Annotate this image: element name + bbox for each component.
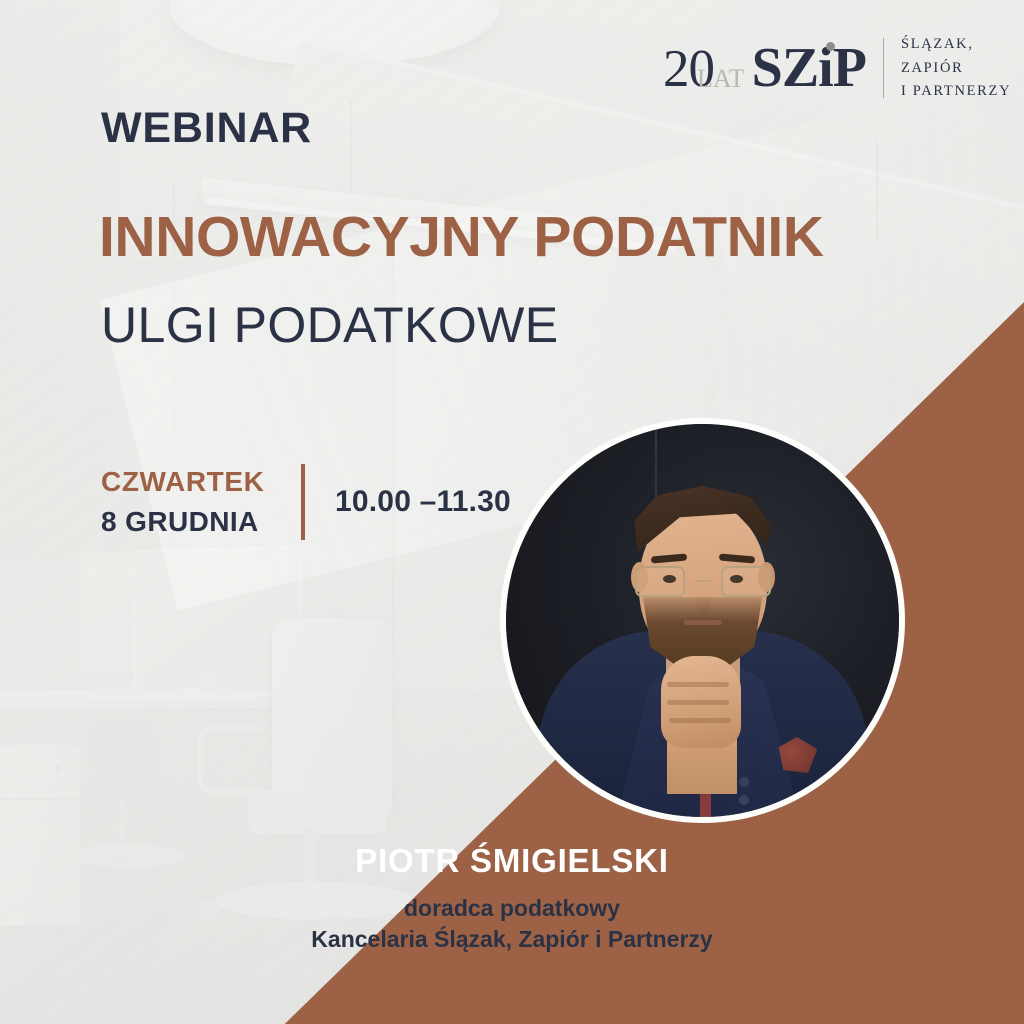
logo-anniversary-word: LAT bbox=[697, 64, 745, 94]
portrait-mouth bbox=[684, 620, 722, 625]
logo-firm-name: ŚLĄZAK, ZAPIÓR I PARTNERZY bbox=[901, 33, 1011, 104]
portrait-finger-3 bbox=[669, 718, 731, 723]
glasses-lens-left bbox=[635, 566, 685, 597]
event-time: 10.00 –11.30 bbox=[335, 485, 511, 519]
speaker-name: PIOTR ŚMIGIELSKI bbox=[0, 840, 1024, 881]
page-subtitle: ULGI PODATKOWE bbox=[101, 296, 559, 354]
glasses-bridge bbox=[695, 580, 711, 583]
speaker-role: doradca podatkowy bbox=[0, 893, 1024, 923]
logo-brand-name: SZiP bbox=[752, 36, 866, 100]
speaker-caption: PIOTR ŚMIGIELSKI doradca podatkowy Kance… bbox=[0, 840, 1024, 954]
portrait-jacket-button-top bbox=[739, 777, 749, 787]
logo-divider bbox=[883, 38, 884, 98]
glasses-lens-right bbox=[721, 566, 771, 597]
webinar-poster: 20 LAT SZiP ŚLĄZAK, ZAPIÓR I PARTNERZY W… bbox=[0, 0, 1024, 1024]
speaker-photo bbox=[506, 424, 899, 817]
logo-firm-line-2: ZAPIÓR bbox=[901, 57, 1011, 81]
event-weekday: CZWARTEK bbox=[101, 466, 301, 498]
event-date-group: CZWARTEK 8 GRUDNIA bbox=[101, 466, 301, 538]
event-date: 8 GRUDNIA bbox=[101, 506, 301, 538]
speaker-avatar bbox=[500, 418, 905, 823]
portrait-finger-2 bbox=[667, 700, 729, 705]
page-title: INNOWACYJNY PODATNIK bbox=[99, 204, 824, 270]
logo-brand-text: SZiP bbox=[752, 37, 866, 99]
portrait-finger-1 bbox=[667, 682, 729, 687]
event-datetime-block: CZWARTEK 8 GRUDNIA 10.00 –11.30 bbox=[101, 464, 511, 540]
event-type-label: WEBINAR bbox=[101, 104, 312, 153]
portrait-jacket-button-bottom bbox=[739, 795, 749, 805]
szip-logo: 20 LAT SZiP ŚLĄZAK, ZAPIÓR I PARTNERZY bbox=[663, 33, 1011, 104]
logo-wordmark: 20 LAT SZiP bbox=[663, 36, 866, 100]
datetime-divider bbox=[301, 464, 305, 540]
logo-firm-line-3: I PARTNERZY bbox=[901, 80, 1011, 104]
speaker-firm: Kancelaria Ślązak, Zapiór i Partnerzy bbox=[0, 924, 1024, 954]
logo-firm-line-1: ŚLĄZAK, bbox=[901, 33, 1011, 57]
